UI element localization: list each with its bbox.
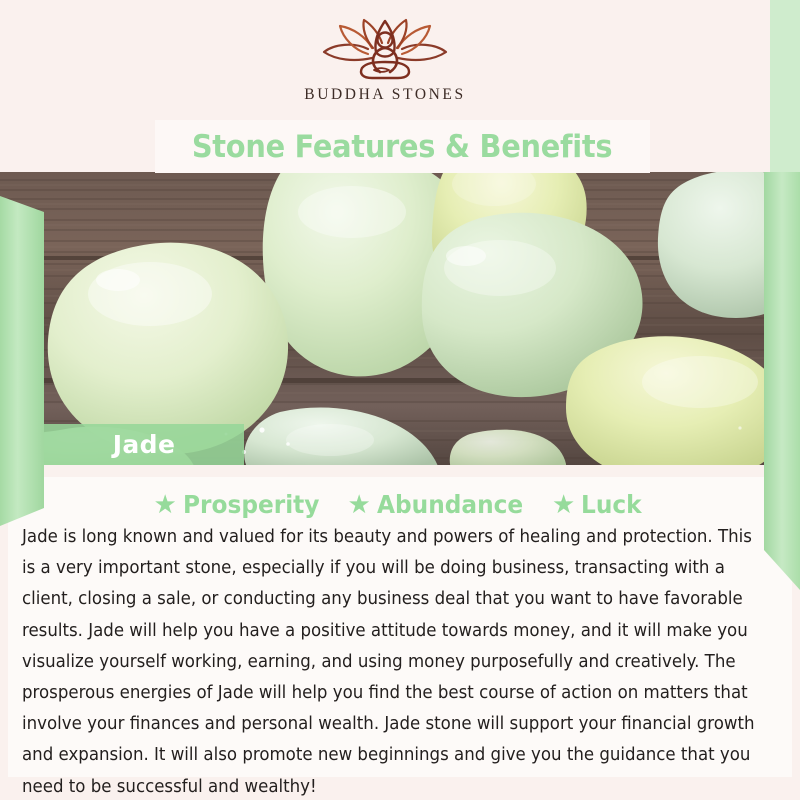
decorative-green-band-left <box>0 196 44 526</box>
benefits-row: ★ Prosperity ★ Abundance ★ Luck <box>8 490 792 519</box>
decorative-green-band-right <box>764 172 800 590</box>
content-panel: ★ Prosperity ★ Abundance ★ Luck Jade is … <box>0 465 800 800</box>
jade-stones-photo <box>0 172 800 465</box>
benefit-label: Abundance <box>377 490 523 519</box>
poster-canvas: BUDDHA STONES Stone Features & Benefits <box>0 0 800 800</box>
benefit-label: Prosperity <box>183 490 319 519</box>
title-banner: Stone Features & Benefits <box>155 120 650 173</box>
content-inner-panel: ★ Prosperity ★ Abundance ★ Luck Jade is … <box>8 477 792 777</box>
benefit-item: ★ Luck <box>552 490 647 519</box>
lotus-meditation-icon <box>310 18 460 80</box>
jade-stones-illustration <box>0 172 800 465</box>
benefit-item: ★ Prosperity <box>153 490 329 519</box>
benefit-item: ★ Abundance <box>348 490 535 519</box>
brand-block: BUDDHA STONES <box>0 18 770 104</box>
stone-name-label: Jade <box>113 430 176 459</box>
stone-description: Jade is long known and valued for its be… <box>22 522 759 800</box>
star-icon: ★ <box>153 491 176 517</box>
brand-name: BUDDHA STONES <box>304 86 465 104</box>
stone-name-badge: Jade <box>44 424 244 465</box>
benefit-label: Luck <box>581 490 642 519</box>
star-icon: ★ <box>348 491 371 517</box>
page-title: Stone Features & Benefits <box>192 129 612 165</box>
star-icon: ★ <box>552 491 575 517</box>
